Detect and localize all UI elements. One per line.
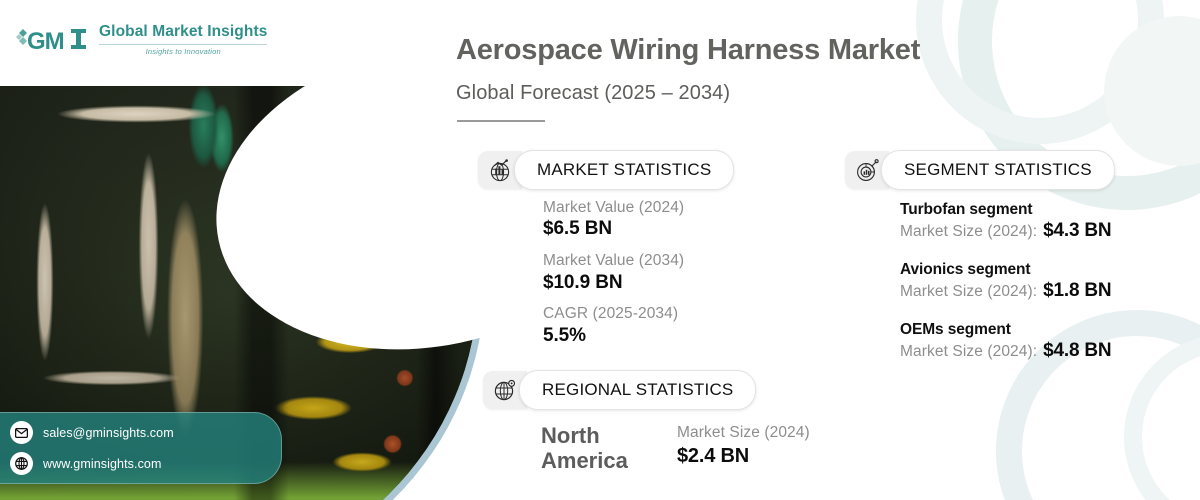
brand-tagline: Insights to Innovation: [99, 48, 267, 56]
segment-name: Avionics segment: [900, 260, 1111, 280]
segment-row: Market Size (2024): $4.8 BN: [900, 340, 1111, 362]
segment-statistics-list: Turbofan segment Market Size (2024): $4.…: [900, 200, 1111, 380]
segment-value: $4.3 BN: [1043, 220, 1111, 242]
segment-row: Market Size (2024): $1.8 BN: [900, 280, 1111, 302]
regional-statistics-pill: REGIONAL STATISTICS: [519, 370, 756, 410]
region-name: North America: [541, 423, 651, 474]
segment-statistics-pill: SEGMENT STATISTICS: [881, 150, 1115, 190]
market-statistics-pill: MARKET STATISTICS: [514, 150, 734, 190]
stat-label: CAGR (2025-2034): [543, 304, 684, 323]
region-meta: Market Size (2024): [677, 423, 810, 443]
contact-website-text: www.gminsights.com: [43, 457, 162, 471]
stat-value: $6.5 BN: [543, 217, 684, 241]
contact-website[interactable]: www.gminsights.com: [10, 452, 272, 475]
segment-meta: Market Size (2024):: [900, 343, 1037, 361]
segment-item: OEMs segment Market Size (2024): $4.8 BN: [900, 320, 1111, 362]
page-subtitle: Global Forecast (2025 – 2034): [456, 82, 730, 105]
decorative-ring-top-right-2: [916, 0, 1164, 144]
stat-item: Market Value (2024) $6.5 BN: [543, 198, 684, 241]
regional-statistics-heading: REGIONAL STATISTICS: [542, 380, 733, 400]
brand-divider: [99, 44, 267, 45]
segment-meta: Market Size (2024):: [900, 283, 1037, 301]
market-statistics-heading: MARKET STATISTICS: [537, 160, 711, 180]
region-value: $2.4 BN: [677, 443, 810, 469]
stat-item: Market Value (2034) $10.9 BN: [543, 251, 684, 294]
segment-meta: Market Size (2024):: [900, 223, 1037, 241]
segment-value: $1.8 BN: [1043, 280, 1111, 302]
market-statistics-list: Market Value (2024) $6.5 BN Market Value…: [543, 198, 684, 357]
segment-item: Avionics segment Market Size (2024): $1.…: [900, 260, 1111, 302]
market-statistics-header: MARKET STATISTICS: [478, 150, 734, 190]
svg-text:GM: GM: [27, 28, 64, 55]
stat-label: Market Value (2024): [543, 198, 684, 217]
brand-logo[interactable]: GM Global Market Insights Insights to In…: [14, 24, 267, 55]
segment-name: OEMs segment: [900, 320, 1111, 340]
segment-statistics-header: SEGMENT STATISTICS: [845, 150, 1115, 190]
segment-name: Turbofan segment: [900, 200, 1111, 220]
decorative-circle-top-right-3: [1104, 16, 1200, 166]
globe-icon: [10, 452, 33, 475]
brand-logo-text: Global Market Insights Insights to Innov…: [99, 24, 267, 55]
segment-statistics-heading: SEGMENT STATISTICS: [904, 160, 1092, 180]
regional-statistics-header: REGIONAL STATISTICS: [483, 370, 756, 410]
stat-value: 5.5%: [543, 324, 684, 348]
regional-statistics-body: North America Market Size (2024) $2.4 BN: [541, 423, 810, 474]
decorative-ring-bottom-right-2: [1124, 334, 1200, 500]
contact-email[interactable]: sales@gminsights.com: [10, 421, 272, 444]
envelope-icon: [10, 421, 33, 444]
stat-value: $10.9 BN: [543, 271, 684, 295]
infographic-canvas: GM Global Market Insights Insights to In…: [0, 0, 1200, 500]
contact-block: sales@gminsights.com www.gminsights.com: [0, 412, 282, 484]
segment-value: $4.8 BN: [1043, 340, 1111, 362]
region-value-group: Market Size (2024) $2.4 BN: [677, 423, 810, 469]
stat-label: Market Value (2034): [543, 251, 684, 270]
brand-name: Global Market Insights: [99, 24, 267, 40]
gmi-diamond-logo-icon: GM: [14, 25, 90, 55]
segment-row: Market Size (2024): $4.3 BN: [900, 220, 1111, 242]
title-divider: [457, 120, 545, 122]
contact-email-text: sales@gminsights.com: [43, 426, 174, 440]
stat-item: CAGR (2025-2034) 5.5%: [543, 304, 684, 347]
page-title: Aerospace Wiring Harness Market: [456, 34, 920, 67]
segment-item: Turbofan segment Market Size (2024): $4.…: [900, 200, 1111, 242]
